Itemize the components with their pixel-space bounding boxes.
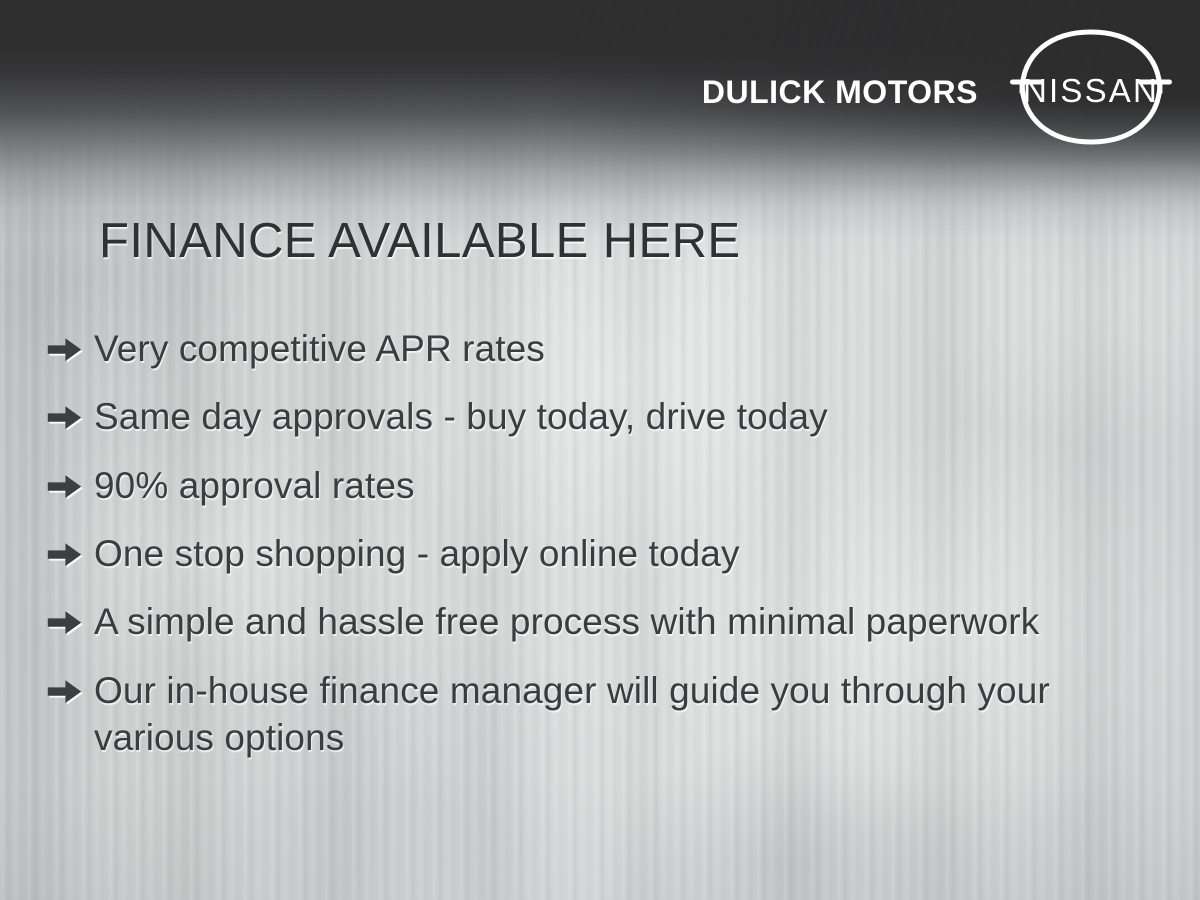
list-item: 90% approval rates <box>44 462 1174 509</box>
nissan-wordmark: NISSAN <box>1023 72 1159 109</box>
list-item-label: Our in-house finance manager will guide … <box>94 667 1174 762</box>
right-arrow-icon <box>44 470 84 503</box>
list-item: One stop shopping - apply online today <box>44 530 1174 577</box>
benefits-list: Very competitive APR rates Same day appr… <box>44 325 1174 783</box>
slide-header: DULICK MOTORS NISSAN <box>0 0 1200 160</box>
list-item-label: Same day approvals - buy today, drive to… <box>94 393 1174 440</box>
right-arrow-icon <box>44 401 84 434</box>
list-item: Same day approvals - buy today, drive to… <box>44 393 1174 440</box>
right-arrow-icon <box>44 538 84 571</box>
nissan-logo-icon: NISSAN <box>1008 26 1174 148</box>
list-item: Our in-house finance manager will guide … <box>44 667 1174 762</box>
list-item: Very competitive APR rates <box>44 325 1174 372</box>
right-arrow-icon <box>44 606 84 639</box>
list-item: A simple and hassle free process with mi… <box>44 598 1174 645</box>
right-arrow-icon <box>44 675 84 708</box>
right-arrow-icon <box>44 333 84 366</box>
slide-canvas: DULICK MOTORS NISSAN FINANCE AVAILABLE H… <box>0 0 1200 900</box>
dealer-name: DULICK MOTORS <box>702 76 978 108</box>
list-item-label: 90% approval rates <box>94 462 1174 509</box>
list-item-label: A simple and hassle free process with mi… <box>94 598 1174 645</box>
list-item-label: Very competitive APR rates <box>94 325 1174 372</box>
page-title: FINANCE AVAILABLE HERE <box>99 216 740 267</box>
list-item-label: One stop shopping - apply online today <box>94 530 1174 577</box>
